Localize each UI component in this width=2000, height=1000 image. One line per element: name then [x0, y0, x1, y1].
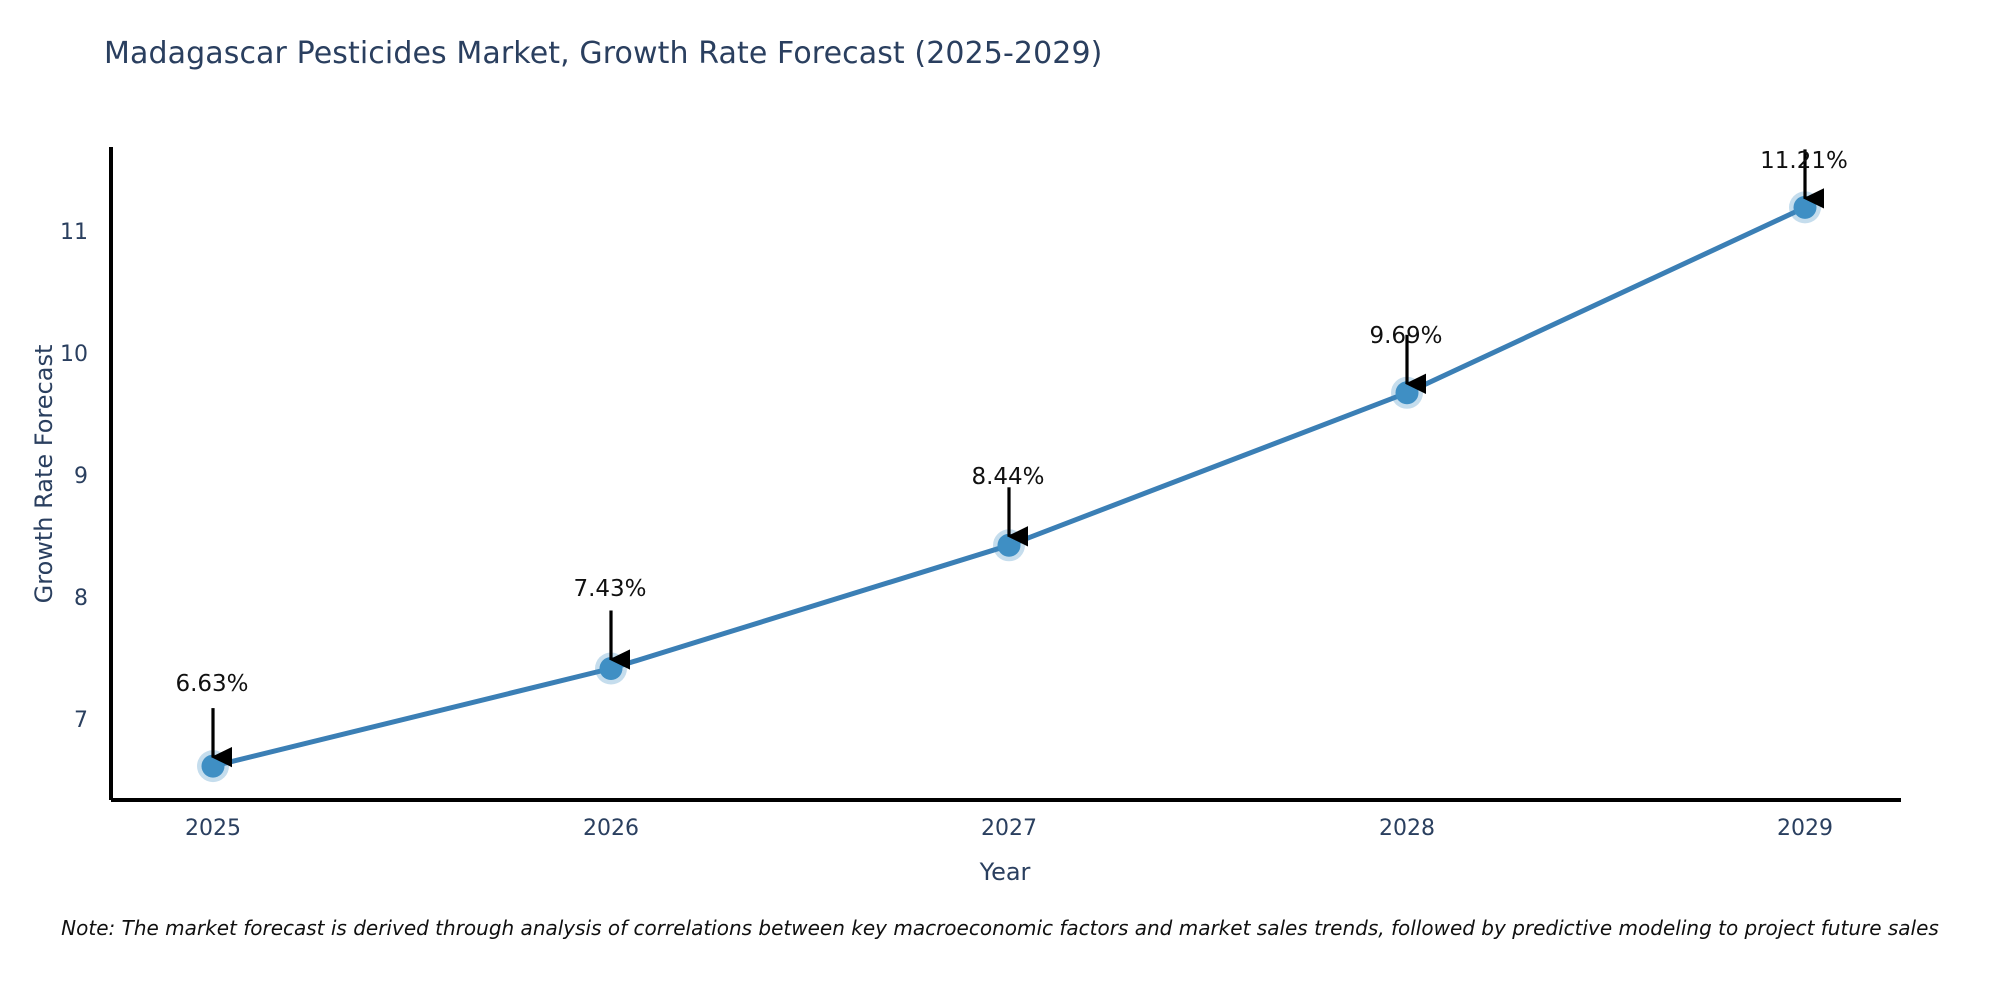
y-tick-label: 9 — [18, 466, 88, 488]
x-tick-label: 2027 — [929, 818, 1089, 840]
plot-area — [0, 0, 2000, 1000]
x-axis-title: Year — [0, 858, 2000, 886]
data-point-marker[interactable] — [202, 755, 225, 778]
chart-note: Note: The market forecast is derived thr… — [0, 916, 2000, 940]
x-tick-label: 2028 — [1327, 818, 1487, 840]
x-tick-label: 2025 — [133, 818, 293, 840]
point-label: 9.69% — [1306, 325, 1506, 348]
y-tick-label: 11 — [18, 222, 88, 244]
chart-canvas: Madagascar Pesticides Market, Growth Rat… — [0, 0, 2000, 1000]
data-point-marker[interactable] — [1396, 381, 1419, 404]
data-point-marker[interactable] — [600, 657, 623, 680]
x-tick-label: 2029 — [1725, 818, 1885, 840]
point-label: 11.21% — [1704, 150, 1904, 173]
x-axis-title-text: Year — [980, 858, 1031, 886]
annotation-arrows — [213, 149, 1805, 757]
data-point-marker[interactable] — [998, 534, 1021, 557]
y-tick-label: 7 — [18, 710, 88, 732]
data-point-marker[interactable] — [1794, 196, 1817, 219]
y-tick-label: 10 — [18, 344, 88, 366]
point-label: 6.63% — [112, 673, 312, 696]
x-tick-label: 2026 — [531, 818, 691, 840]
y-tick-label: 8 — [18, 588, 88, 610]
point-label: 7.43% — [510, 578, 710, 601]
point-label: 8.44% — [908, 466, 1108, 489]
